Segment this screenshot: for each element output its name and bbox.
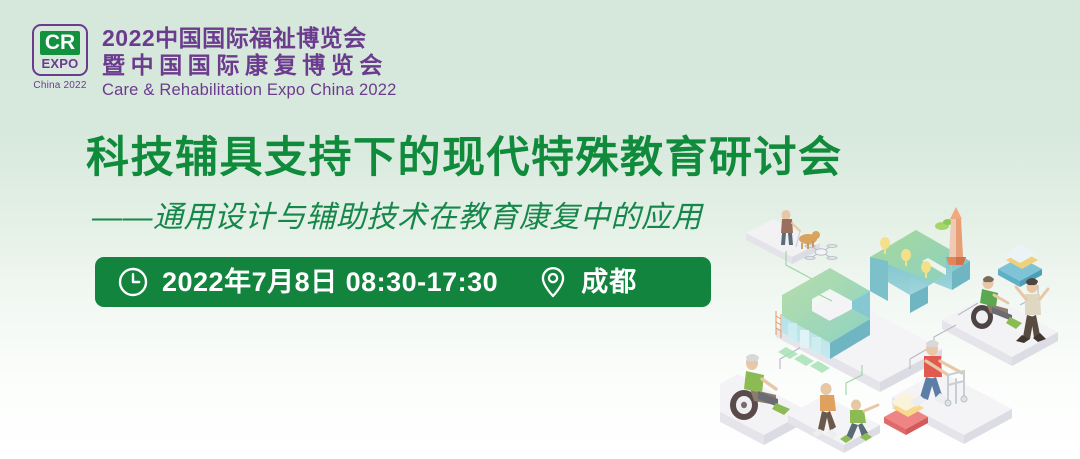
page-title: 科技辅具支持下的现代特殊教育研讨会: [86, 132, 843, 184]
brand-line-2: 暨中国国际康复博览会: [102, 52, 397, 79]
brand-lockup: CR EXPO China 2022 2022中国国际福祉博览会 暨中国国际康复…: [30, 24, 397, 101]
brand-title-block: 2022中国国际福祉博览会 暨中国国际康复博览会 Care & Rehabili…: [102, 24, 397, 101]
clock-icon: [117, 266, 149, 298]
event-info-bar: 2022年7月8日 08:30-17:30 成都: [95, 257, 711, 307]
logo-cr-text: CR: [40, 31, 80, 55]
brand-line-1: 2022中国国际福祉博览会: [102, 25, 397, 52]
location-pin-icon: [538, 265, 568, 299]
logo-china-year: China 2022: [33, 80, 86, 92]
event-banner: CR EXPO China 2022 2022中国国际福祉博览会 暨中国国际康复…: [0, 0, 1080, 459]
isometric-cr-accessibility-scene: [720, 199, 1080, 459]
event-datetime: 2022年7月8日 08:30-17:30: [162, 267, 498, 297]
logo-expo-text: EXPO: [42, 56, 79, 71]
page-subtitle: ——通用设计与辅助技术在教育康复中的应用: [92, 198, 702, 238]
logo-badge: CR EXPO: [32, 24, 88, 76]
rooftop-plant: [935, 219, 953, 230]
event-venue: 成都: [581, 267, 637, 297]
cr-expo-logo: CR EXPO China 2022: [30, 24, 90, 92]
platform-right: [942, 295, 1058, 366]
brand-line-en: Care & Rehabilitation Expo China 2022: [102, 80, 397, 101]
event-venue-group: 成都: [538, 265, 637, 299]
